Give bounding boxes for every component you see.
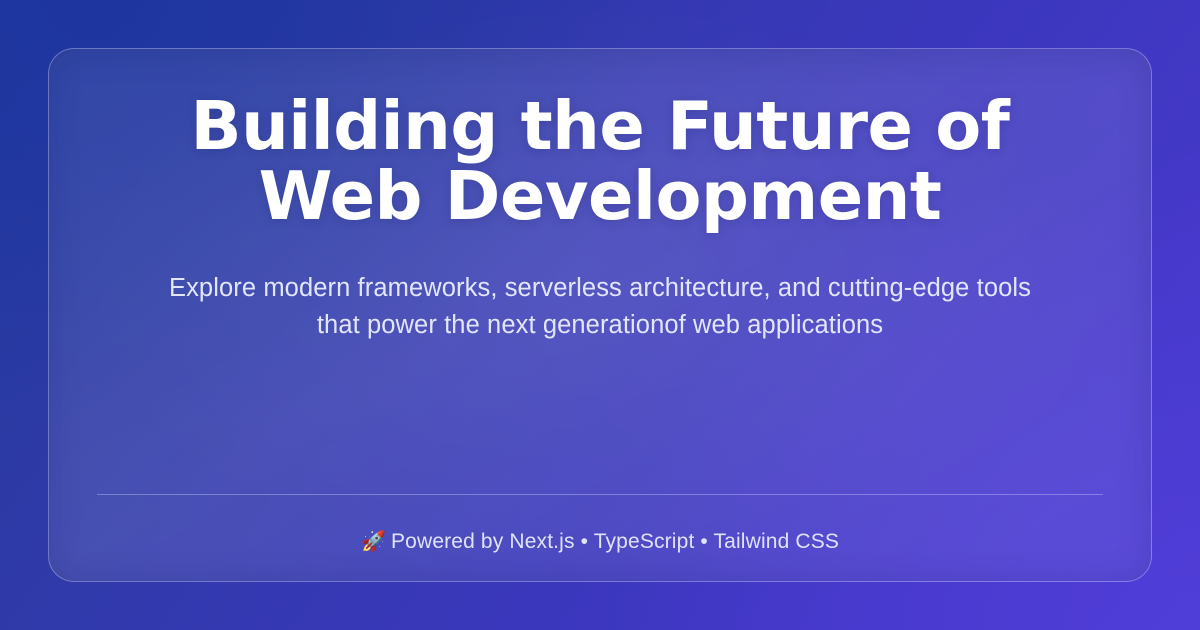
footer-credits-label: Powered by Next.js • TypeScript • Tailwi…: [391, 530, 839, 553]
footer-credits: 🚀Powered by Next.js • TypeScript • Tailw…: [105, 495, 1095, 555]
rocket-icon: 🚀: [361, 529, 386, 553]
og-image-canvas: Building the Future of Web Development E…: [0, 0, 1200, 630]
hero-card: Building the Future of Web Development E…: [48, 48, 1152, 582]
page-subtitle: Explore modern frameworks, serverless ar…: [160, 232, 1040, 344]
page-title: Building the Future of Web Development: [160, 91, 1040, 232]
